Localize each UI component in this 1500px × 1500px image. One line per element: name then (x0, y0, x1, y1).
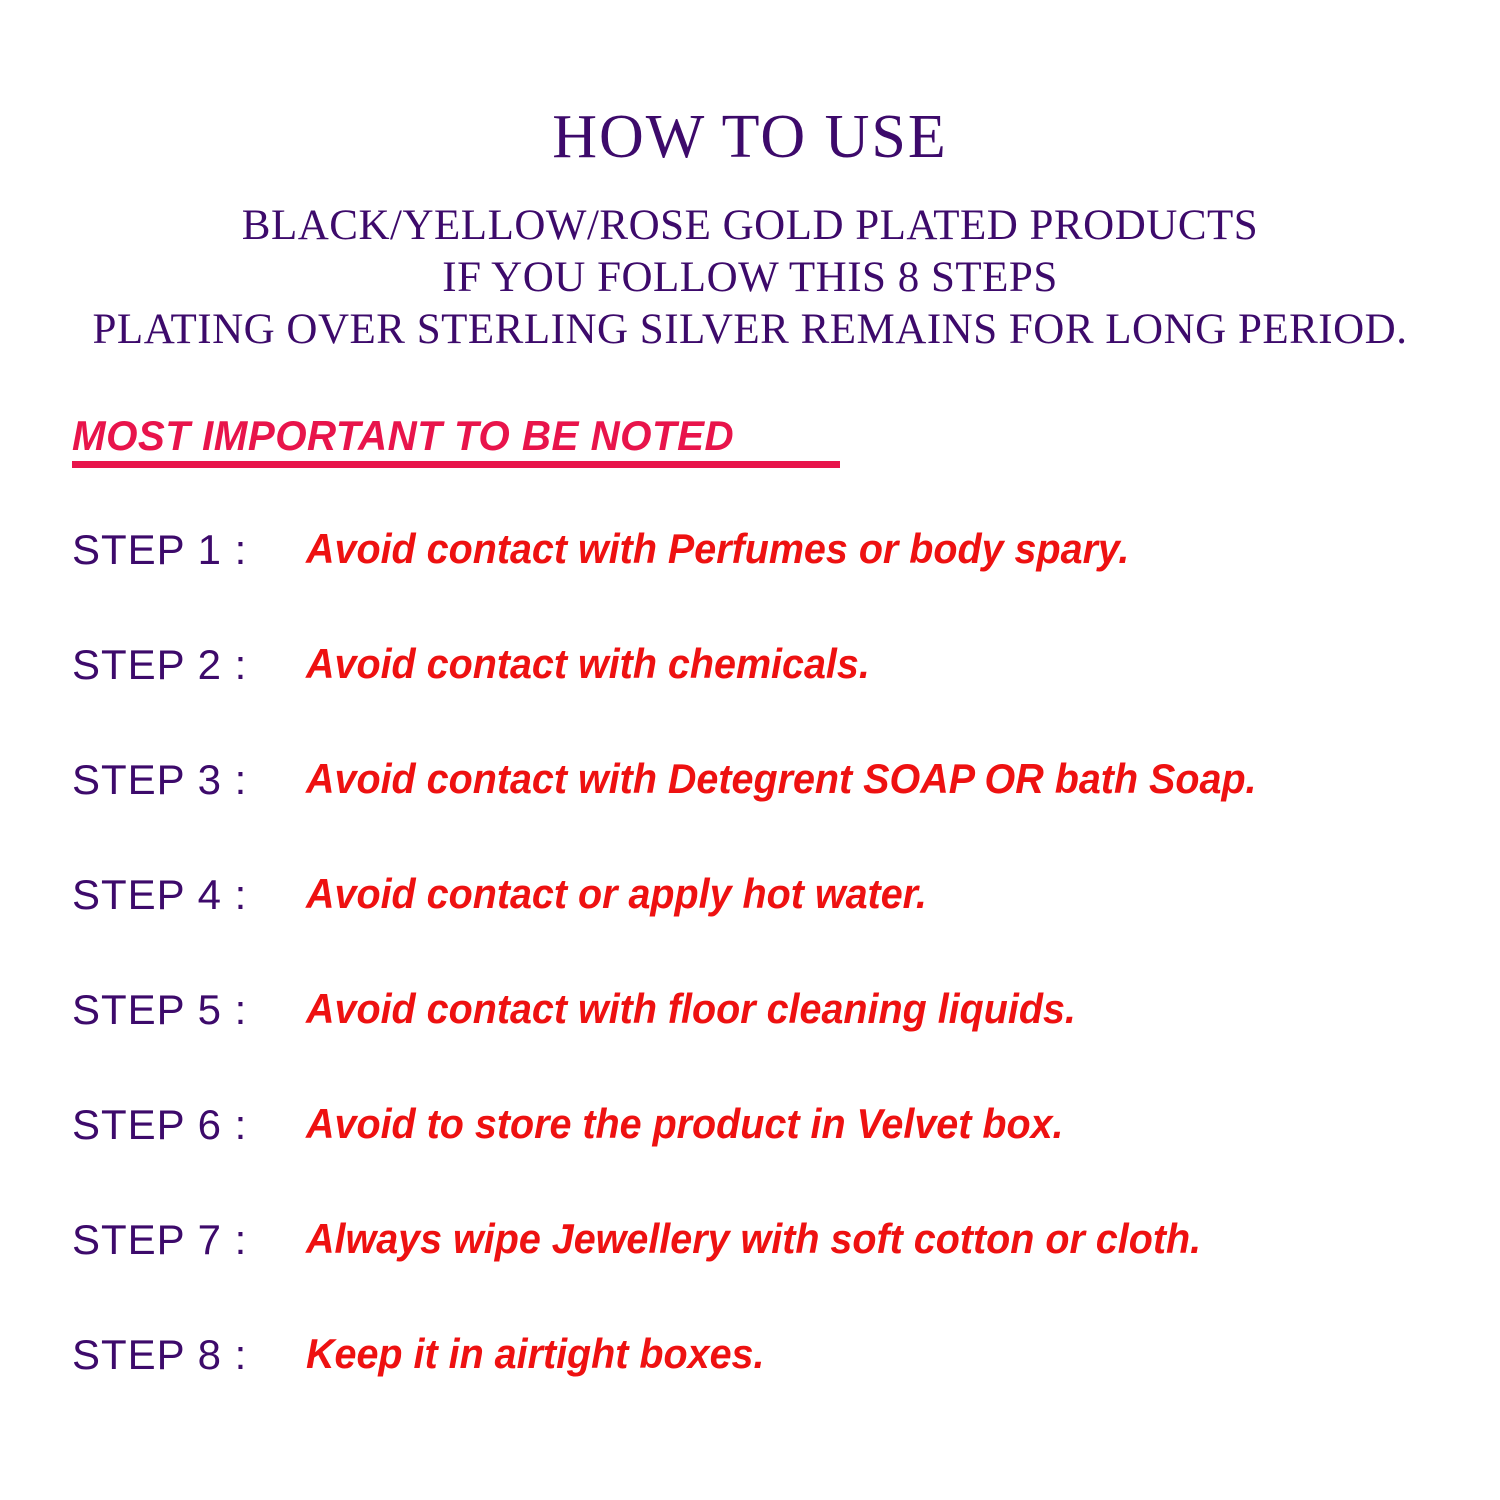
steps-list: STEP 1 : Avoid contact with Perfumes or … (0, 526, 1500, 1446)
how-to-use-page: HOW TO USE BLACK/YELLOW/ROSE GOLD PLATED… (0, 0, 1500, 1500)
subtitle-block: BLACK/YELLOW/ROSE GOLD PLATED PRODUCTS I… (0, 200, 1500, 356)
step-row: STEP 5 : Avoid contact with floor cleani… (0, 986, 1500, 1101)
step-label-5: STEP 5 : (72, 986, 247, 1034)
subtitle-line-2: IF YOU FOLLOW THIS 8 STEPS (0, 252, 1500, 304)
step-label-2: STEP 2 : (72, 641, 247, 689)
title-block: HOW TO USE (0, 100, 1500, 174)
step-row: STEP 4 : Avoid contact or apply hot wate… (0, 871, 1500, 986)
step-text-8: Keep it in airtight boxes. (306, 1329, 764, 1379)
step-label-7: STEP 7 : (72, 1216, 247, 1264)
step-text-4: Avoid contact or apply hot water. (306, 869, 927, 919)
step-text-7: Always wipe Jewellery with soft cotton o… (306, 1214, 1201, 1264)
step-label-6: STEP 6 : (72, 1101, 247, 1149)
step-label-4: STEP 4 : (72, 871, 247, 919)
notice-heading: MOST IMPORTANT TO BE NOTED (72, 412, 734, 460)
step-text-6: Avoid to store the product in Velvet box… (306, 1099, 1064, 1149)
step-row: STEP 8 : Keep it in airtight boxes. (0, 1331, 1500, 1446)
step-row: STEP 7 : Always wipe Jewellery with soft… (0, 1216, 1500, 1331)
page-title: HOW TO USE (0, 100, 1500, 174)
subtitle-line-1: BLACK/YELLOW/ROSE GOLD PLATED PRODUCTS (0, 200, 1500, 252)
step-text-5: Avoid contact with floor cleaning liquid… (306, 984, 1076, 1034)
step-row: STEP 2 : Avoid contact with chemicals. (0, 641, 1500, 756)
step-row: STEP 1 : Avoid contact with Perfumes or … (0, 526, 1500, 641)
step-label-3: STEP 3 : (72, 756, 247, 804)
step-row: STEP 6 : Avoid to store the product in V… (0, 1101, 1500, 1216)
step-text-2: Avoid contact with chemicals. (306, 639, 870, 689)
step-label-1: STEP 1 : (72, 526, 247, 574)
notice-heading-underline (72, 461, 840, 468)
step-text-1: Avoid contact with Perfumes or body spar… (306, 524, 1129, 574)
step-row: STEP 3 : Avoid contact with Detegrent SO… (0, 756, 1500, 871)
subtitle-line-3: PLATING OVER STERLING SILVER REMAINS FOR… (0, 304, 1500, 356)
step-text-3: Avoid contact with Detegrent SOAP OR bat… (306, 754, 1257, 804)
step-label-8: STEP 8 : (72, 1331, 247, 1379)
